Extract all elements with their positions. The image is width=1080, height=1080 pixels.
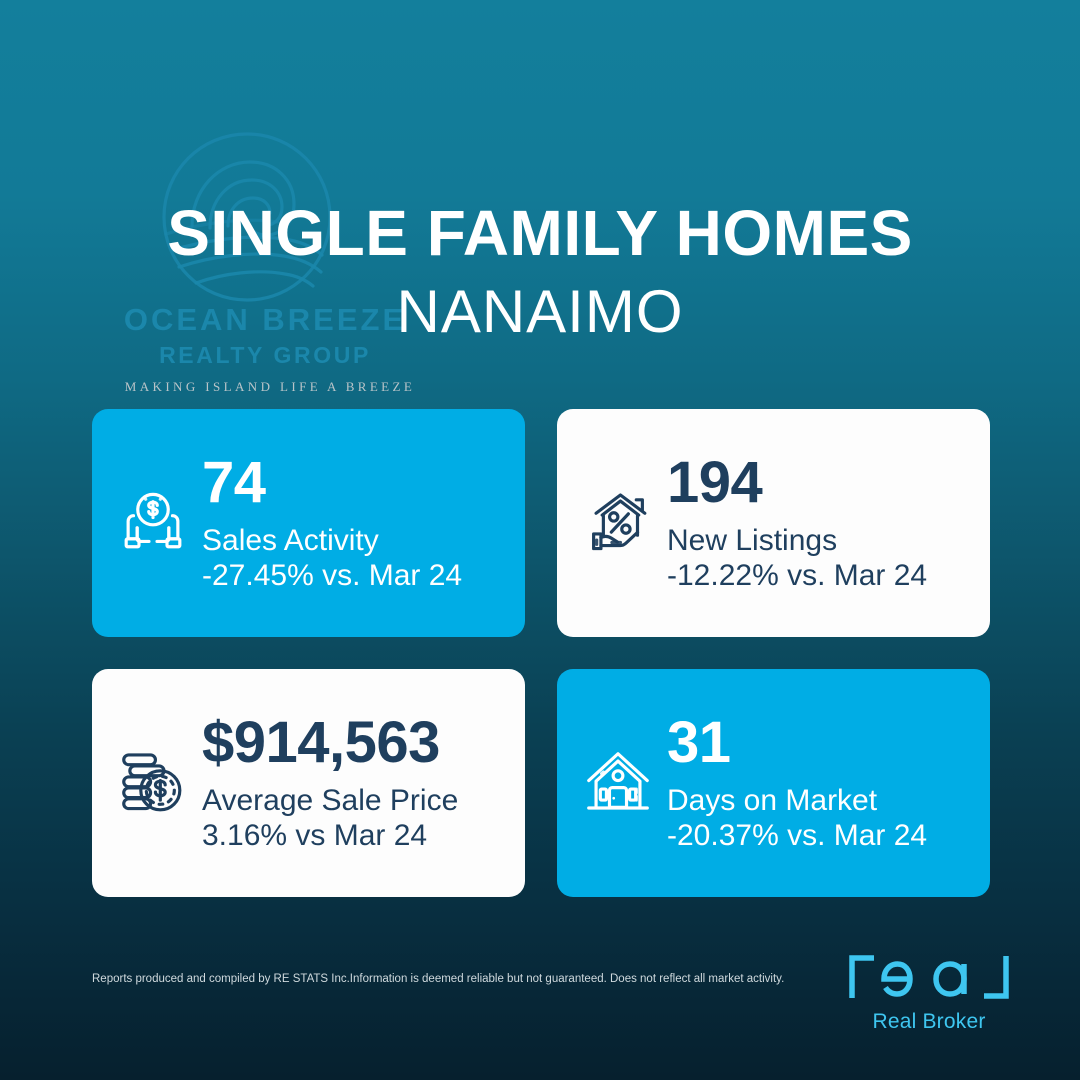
stat-body: 31 Days on Market -20.37% vs. Mar 24	[661, 713, 970, 854]
page-subtitle: NANAIMO	[0, 282, 1080, 342]
stat-change: -27.45% vs. Mar 24	[202, 559, 505, 594]
stat-card-new-listings: 194 New Listings -12.22% vs. Mar 24	[557, 409, 990, 637]
stat-label: Average Sale Price	[202, 784, 505, 819]
real-broker-logo: Real Broker	[834, 946, 1024, 1034]
stat-value: $914,563	[202, 713, 505, 772]
stats-grid: 74 Sales Activity -27.45% vs. Mar 24	[92, 409, 990, 897]
stat-card-sales-activity: 74 Sales Activity -27.45% vs. Mar 24	[92, 409, 525, 637]
infographic-canvas: OCEAN BREEZE REALTY GROUP MAKING ISLAND …	[0, 0, 1080, 1080]
brand-tagline: MAKING ISLAND LIFE A BREEZE	[100, 379, 440, 395]
stat-value: 31	[667, 713, 970, 772]
real-wordmark-icon	[844, 946, 1014, 1008]
brand-name-line2: REALTY GROUP	[100, 342, 430, 369]
stat-label: Days on Market	[667, 784, 970, 819]
disclaimer-text: Reports produced and compiled by RE STAT…	[92, 972, 852, 987]
stat-card-days-on-market: 31 Days on Market -20.37% vs. Mar 24	[557, 669, 990, 897]
hand-holding-house-percent-icon	[575, 480, 661, 566]
stat-value: 194	[667, 453, 970, 512]
stat-label: New Listings	[667, 524, 970, 559]
stat-body: 74 Sales Activity -27.45% vs. Mar 24	[196, 453, 505, 594]
coin-stack-icon	[110, 740, 196, 826]
stat-card-average-sale-price: $914,563 Average Sale Price 3.16% vs Mar…	[92, 669, 525, 897]
stat-body: 194 New Listings -12.22% vs. Mar 24	[661, 453, 970, 594]
page-title: SINGLE FAMILY HOMES	[0, 201, 1080, 265]
stat-body: $914,563 Average Sale Price 3.16% vs Mar…	[196, 713, 505, 854]
stat-change: -20.37% vs. Mar 24	[667, 819, 970, 854]
stat-label: Sales Activity	[202, 524, 505, 559]
stat-change: -12.22% vs. Mar 24	[667, 559, 970, 594]
stat-change: 3.16% vs Mar 24	[202, 819, 505, 854]
hands-holding-coin-icon	[110, 480, 196, 566]
stat-value: 74	[202, 453, 505, 512]
house-icon	[575, 740, 661, 826]
real-broker-label: Real Broker	[834, 1010, 1024, 1034]
